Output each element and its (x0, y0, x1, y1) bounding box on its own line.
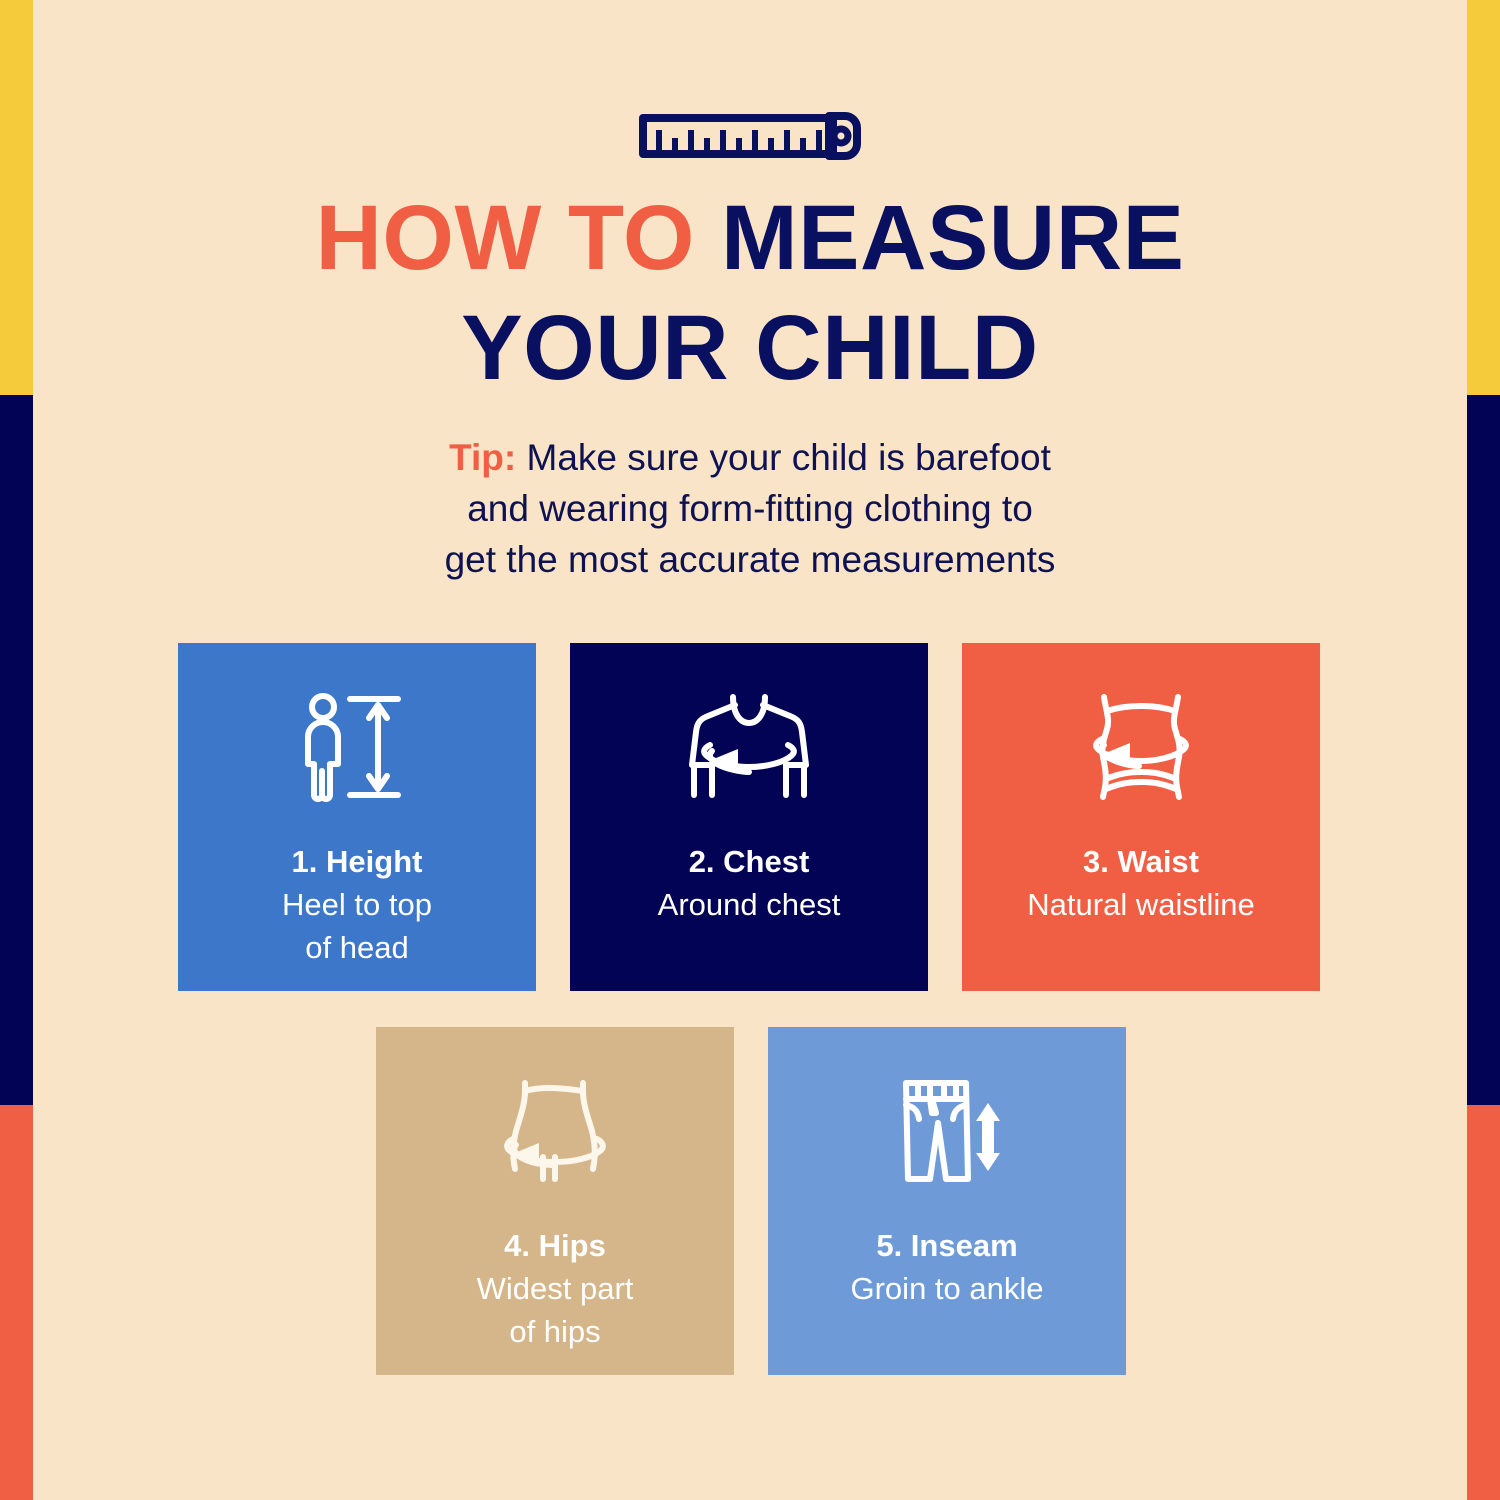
infographic-page: HOW TO MEASURE YOUR CHILD Tip: Make sure… (0, 0, 1500, 1500)
title-line-1: HOW TO MEASURE (0, 192, 1500, 284)
left-orange-band (0, 1105, 33, 1500)
card-hips-desc: Widest part of hips (477, 1267, 634, 1353)
tip-label: Tip: (449, 437, 516, 478)
card-hips-title: 4. Hips (504, 1229, 606, 1263)
card-chest-desc-line1: Around chest (658, 887, 841, 922)
ruler-icon (637, 108, 863, 164)
card-waist-desc: Natural waistline (1027, 883, 1254, 926)
tip-line-2: and wearing form-fitting clothing to (0, 483, 1500, 534)
card-chest-icon-wrapper (678, 691, 820, 803)
tip-text: Tip: Make sure your child is barefoot an… (0, 432, 1500, 585)
card-inseam-desc: Groin to ankle (851, 1267, 1044, 1310)
inseam-arrow (976, 1103, 1000, 1171)
card-hips-icon-wrapper (497, 1075, 613, 1187)
card-inseam[interactable]: 5. Inseam Groin to ankle (768, 1027, 1126, 1375)
card-waist[interactable]: 3. Waist Natural waistline (962, 643, 1320, 991)
hips-icon (497, 1075, 613, 1187)
card-chest-title: 2. Chest (689, 845, 810, 879)
tip-line-1-text: Make sure your child is barefoot (516, 437, 1051, 478)
ruler-icon-wrapper (0, 108, 1500, 164)
card-height-icon-wrapper (298, 691, 416, 803)
card-hips-desc-line2: of hips (509, 1314, 600, 1349)
card-waist-title: 3. Waist (1083, 845, 1199, 879)
card-waist-desc-line1: Natural waistline (1027, 887, 1254, 922)
card-height-desc-line2: of head (305, 930, 408, 965)
card-chest[interactable]: 2. Chest Around chest (570, 643, 928, 991)
card-height-desc-line1: Heel to top (282, 887, 432, 922)
card-height[interactable]: 1. Height Heel to top of head (178, 643, 536, 991)
person-height-icon (298, 691, 416, 803)
card-waist-icon-wrapper (1086, 691, 1196, 803)
jeans-inseam-icon (888, 1075, 1006, 1187)
tip-line-1: Tip: Make sure your child is barefoot (0, 432, 1500, 483)
torso-chest-icon (678, 691, 820, 803)
title-accent: HOW TO (315, 187, 695, 289)
tip-line-3: get the most accurate measurements (0, 534, 1500, 585)
card-hips[interactable]: 4. Hips Widest part of hips (376, 1027, 734, 1375)
card-height-desc: Heel to top of head (282, 883, 432, 969)
card-inseam-title: 5. Inseam (876, 1229, 1017, 1263)
card-hips-desc-line1: Widest part (477, 1271, 634, 1306)
torso-waist-icon (1086, 691, 1196, 803)
card-inseam-desc-line1: Groin to ankle (851, 1271, 1044, 1306)
title-rest: MEASURE (695, 187, 1185, 289)
right-orange-band (1467, 1105, 1500, 1500)
page-title: HOW TO MEASURE YOUR CHILD (0, 192, 1500, 394)
title-line-2: YOUR CHILD (0, 302, 1500, 394)
card-inseam-icon-wrapper (888, 1075, 1006, 1187)
card-height-title: 1. Height (292, 845, 423, 879)
card-chest-desc: Around chest (658, 883, 841, 926)
